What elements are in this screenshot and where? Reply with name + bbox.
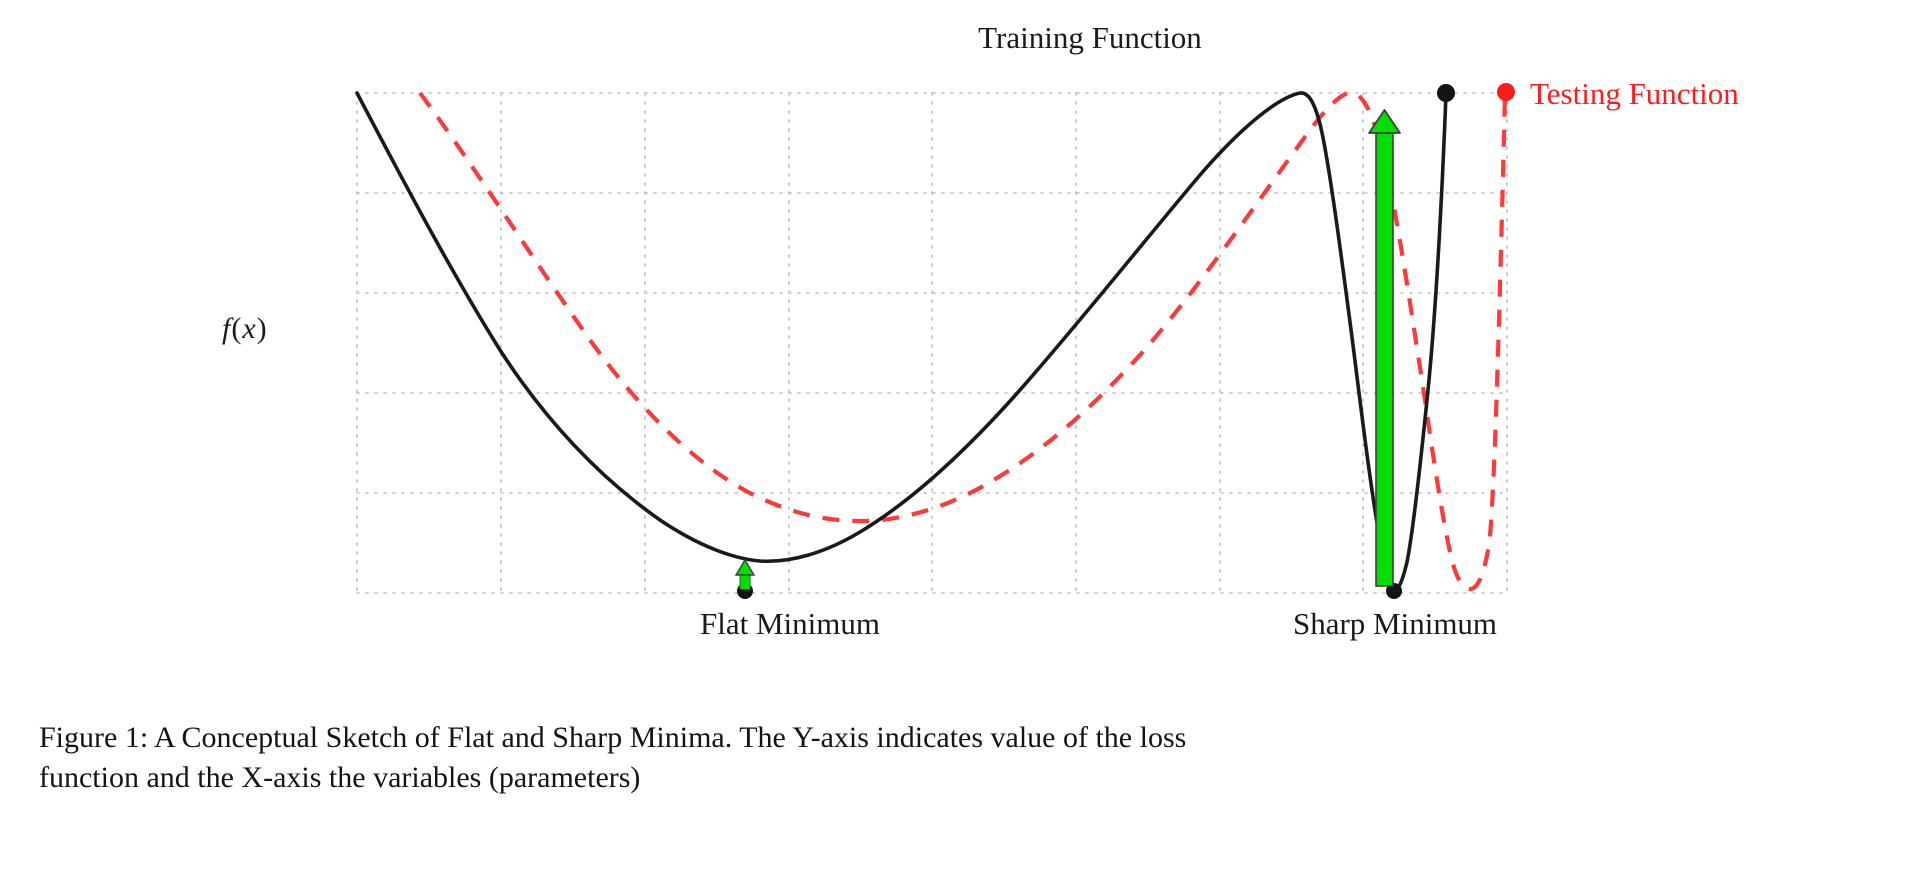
flat-minimum-label: Flat Minimum — [620, 608, 960, 639]
grid-lines — [357, 93, 1507, 593]
training-endpoint-marker — [1437, 84, 1455, 102]
y-axis-label: f(x) — [222, 314, 268, 344]
testing-function-label: Testing Function — [1530, 78, 1739, 109]
flat-minimum-gap-arrow — [736, 560, 754, 589]
plot-area: Training Function Testing Function Flat … — [0, 0, 1919, 700]
sharp-minimum-gap-arrow — [1369, 110, 1400, 586]
y-axis-label-x: x — [242, 312, 255, 345]
sharp-minimum-label: Sharp Minimum — [1225, 608, 1565, 639]
figure-caption: Figure 1: A Conceptual Sketch of Flat an… — [39, 718, 1519, 798]
training-function-label: Training Function — [900, 22, 1280, 53]
caption-line-1: Figure 1: A Conceptual Sketch of Flat an… — [39, 718, 1519, 758]
y-axis-label-paren-open: ( — [230, 312, 242, 345]
y-axis-label-paren-close: ) — [256, 312, 268, 345]
testing-function-curve — [420, 93, 1505, 589]
testing-endpoint-marker — [1497, 83, 1515, 101]
figure-container: Training Function Testing Function Flat … — [0, 0, 1919, 890]
caption-line-2: function and the X-axis the variables (p… — [39, 758, 1519, 798]
